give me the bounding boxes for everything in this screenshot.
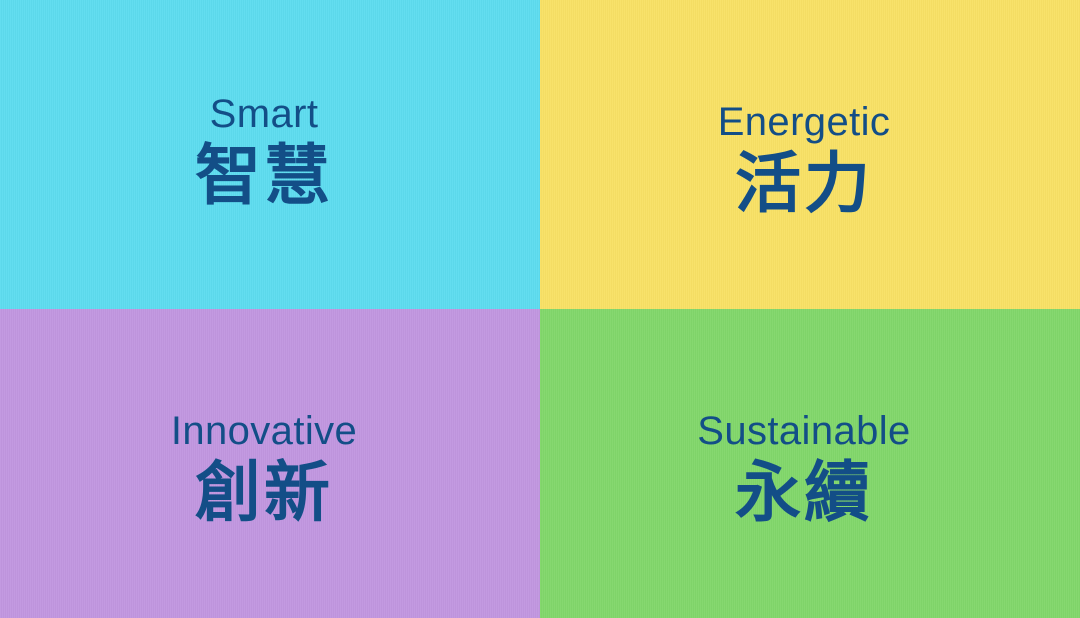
- quadrant-energetic: Energetic 活力: [540, 0, 1080, 309]
- quadrant-innovative: Innovative 創新: [0, 309, 540, 618]
- brand-values-quadrant-grid: Smart 智慧 Energetic 活力 Innovative 創新 Sust…: [0, 0, 1080, 618]
- quadrant-innovative-label-en: Innovative: [171, 410, 357, 452]
- quadrant-sustainable: Sustainable 永續: [540, 309, 1080, 618]
- quadrant-sustainable-content: Sustainable 永續: [697, 410, 910, 530]
- quadrant-innovative-content: Innovative 創新: [171, 410, 357, 530]
- quadrant-smart: Smart 智慧: [0, 0, 540, 309]
- quadrant-smart-content: Smart 智慧: [195, 93, 333, 213]
- quadrant-innovative-label-zh: 創新: [171, 456, 357, 530]
- quadrant-sustainable-label-en: Sustainable: [697, 410, 910, 452]
- quadrant-energetic-content: Energetic 活力: [718, 101, 891, 221]
- quadrant-smart-label-en: Smart: [195, 93, 333, 135]
- quadrant-energetic-label-zh: 活力: [718, 147, 891, 221]
- quadrant-smart-label-zh: 智慧: [195, 139, 333, 213]
- quadrant-energetic-label-en: Energetic: [718, 101, 891, 143]
- quadrant-sustainable-label-zh: 永續: [697, 456, 910, 530]
